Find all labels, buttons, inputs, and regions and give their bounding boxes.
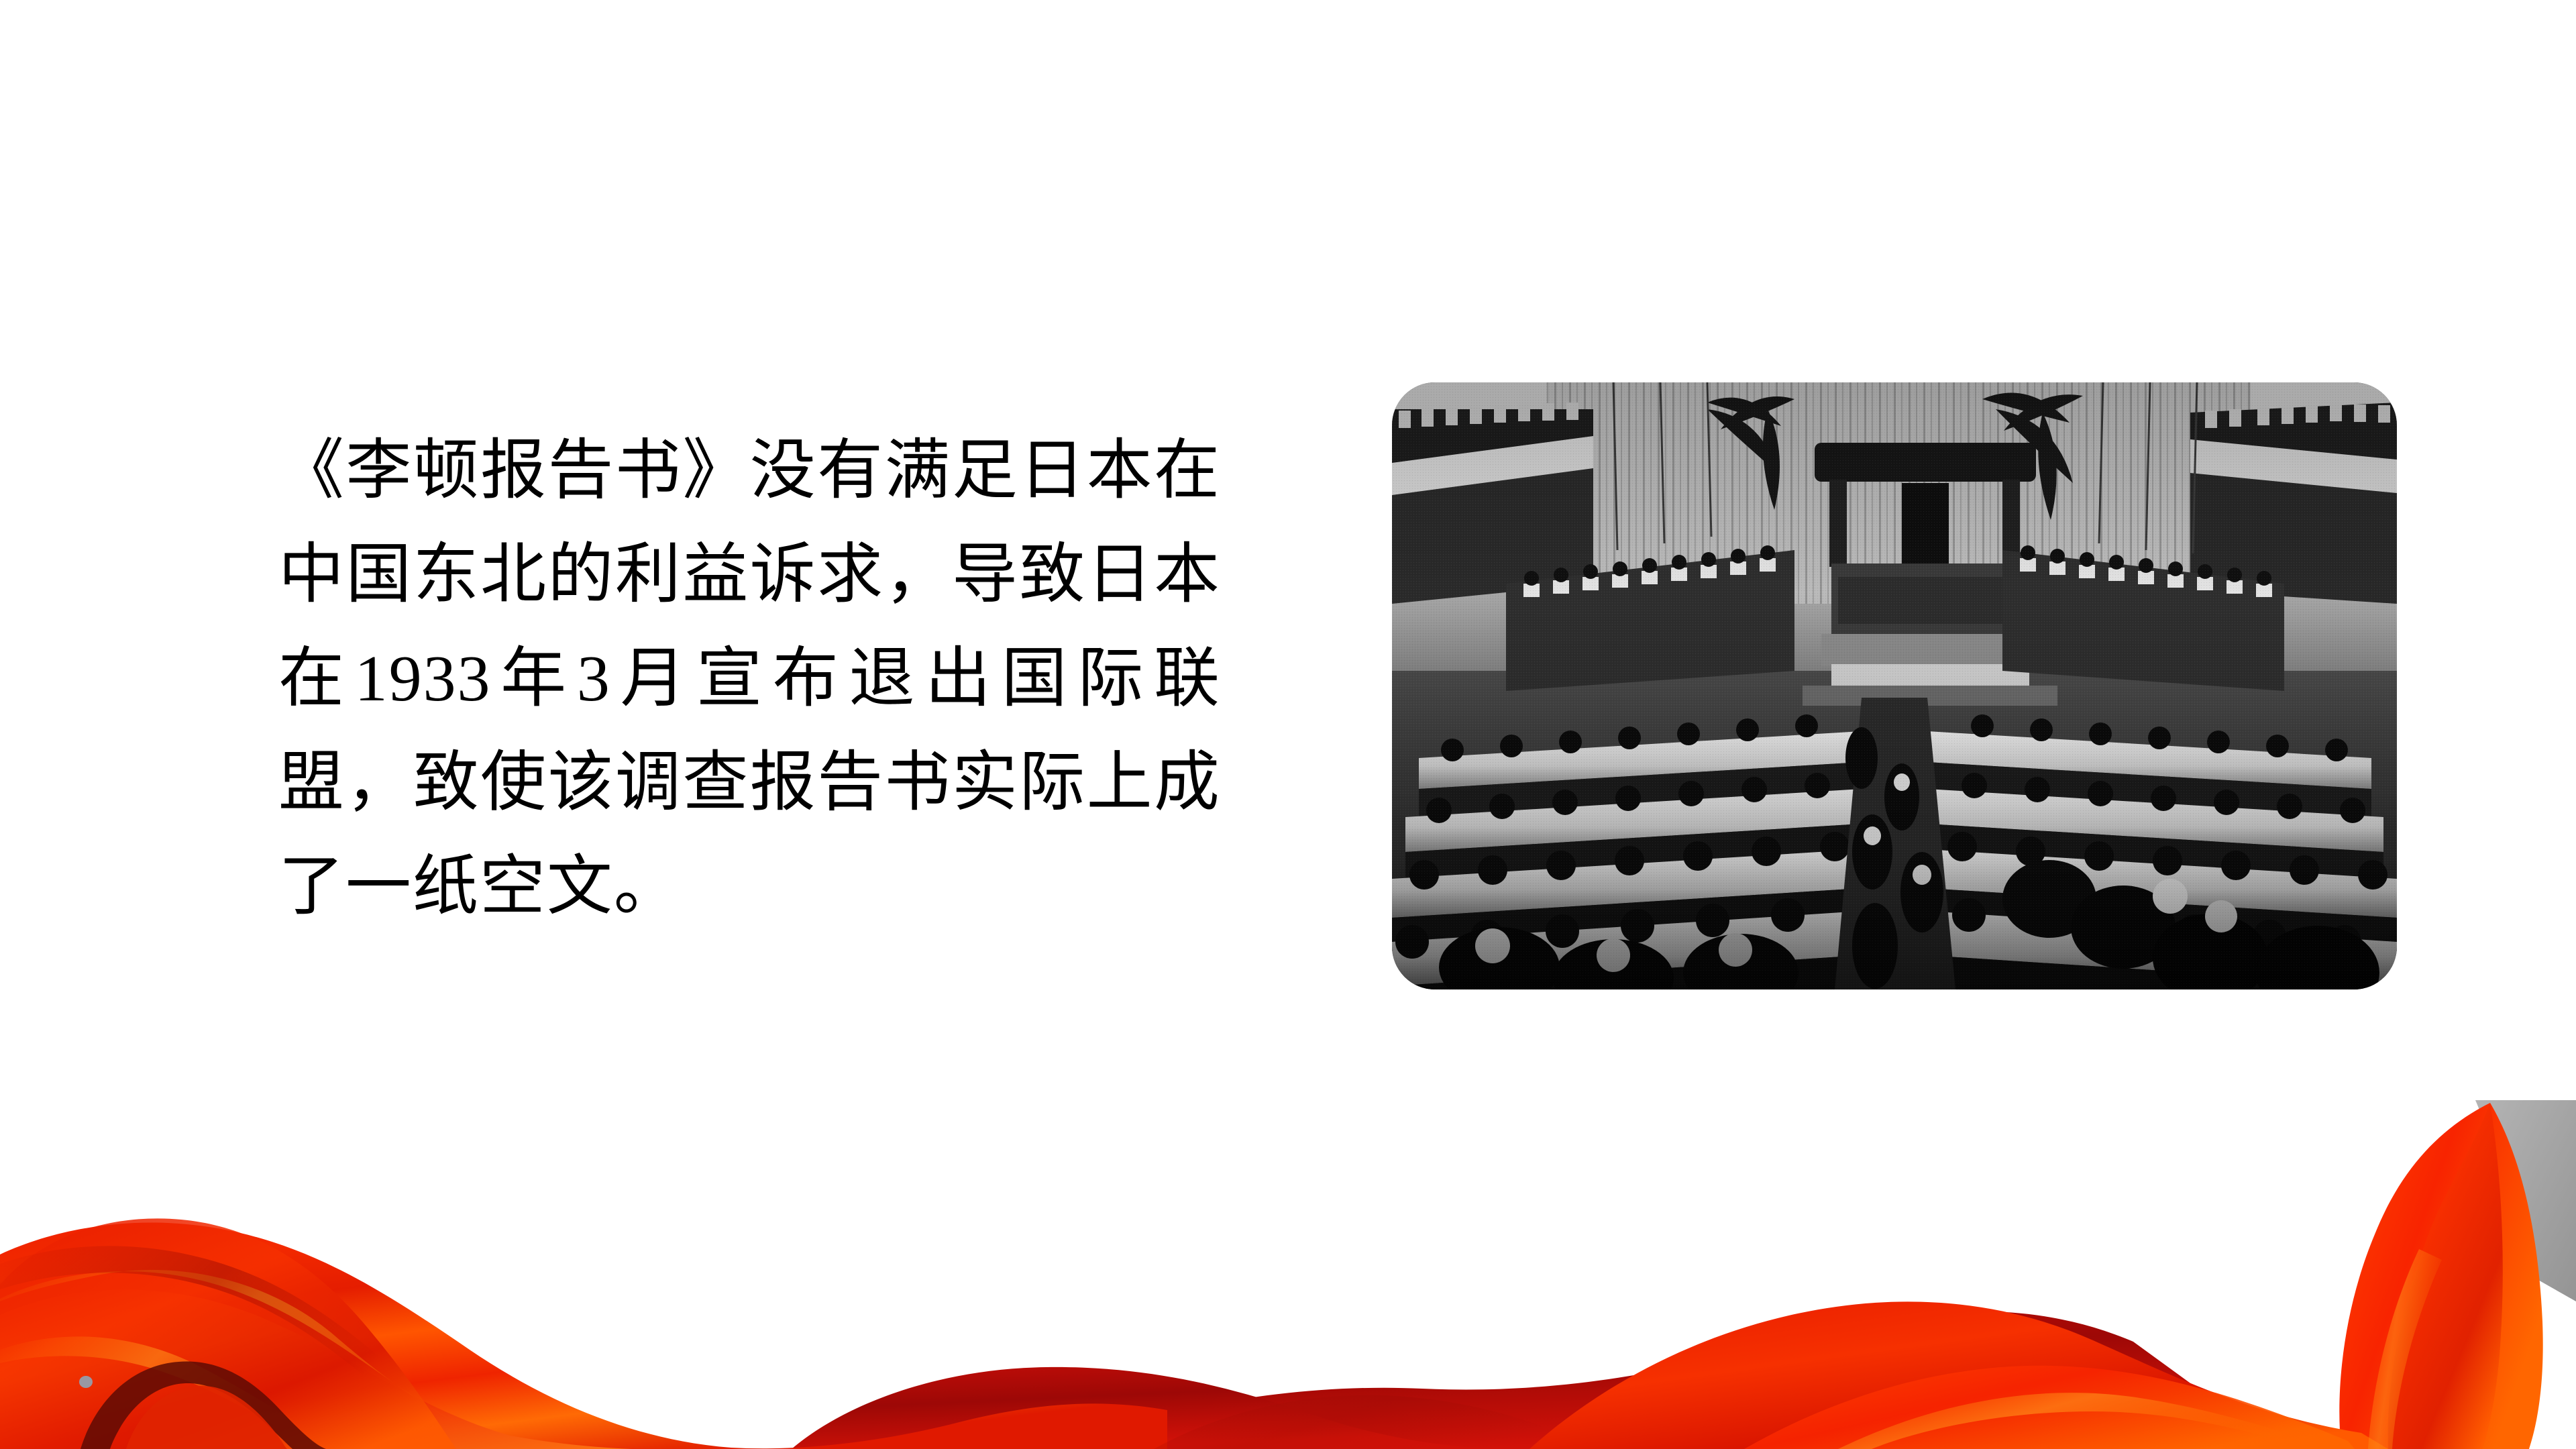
photo-image [1392, 382, 2397, 989]
red-silk-ribbon-decoration [0, 1100, 2576, 1449]
ribbon-main-inner-fold [0, 1289, 711, 1449]
ribbon-back-right [1046, 1311, 2281, 1449]
ribbon-highlight-band-1 [0, 1270, 557, 1449]
ribbon-shadow-right [2475, 1100, 2576, 1301]
ribbon-right-arc-front [1744, 1366, 2355, 1449]
ribbon-highlight-band-4 [2368, 1249, 2442, 1449]
ribbon-crease-1 [0, 1246, 429, 1415]
ribbon-dark-crease [80, 1361, 326, 1449]
ribbon-graphic [0, 1100, 2576, 1449]
ribbon-right-arc [1529, 1301, 2388, 1449]
ribbon-strip-fold [2388, 1103, 2503, 1449]
ribbon-highlight-band-2 [0, 1336, 349, 1449]
ribbon-back-fold [792, 1367, 1516, 1449]
ribbon-vertical-strip [2339, 1103, 2542, 1449]
ribbon-shadow-lower-right [2361, 1301, 2522, 1395]
ribbon-highlight-band-3 [1838, 1393, 2348, 1449]
ribbon-specular-dot [79, 1376, 93, 1388]
body-paragraph: 《李顿报告书》没有满足日本在中国东北的利益诉求，导致日本在1933年3月宣布退出… [278, 419, 1221, 939]
ribbon-main-sweep [0, 1223, 1167, 1449]
league-of-nations-photo [1392, 382, 2397, 989]
ribbon-crease-infill [126, 1386, 287, 1449]
slide-canvas: 《李顿报告书》没有满足日本在中国东北的利益诉求，导致日本在1933年3月宣布退出… [0, 0, 2576, 1449]
ribbon-crease-2 [1154, 1395, 1597, 1449]
ribbon-left-mound [0, 1218, 456, 1449]
